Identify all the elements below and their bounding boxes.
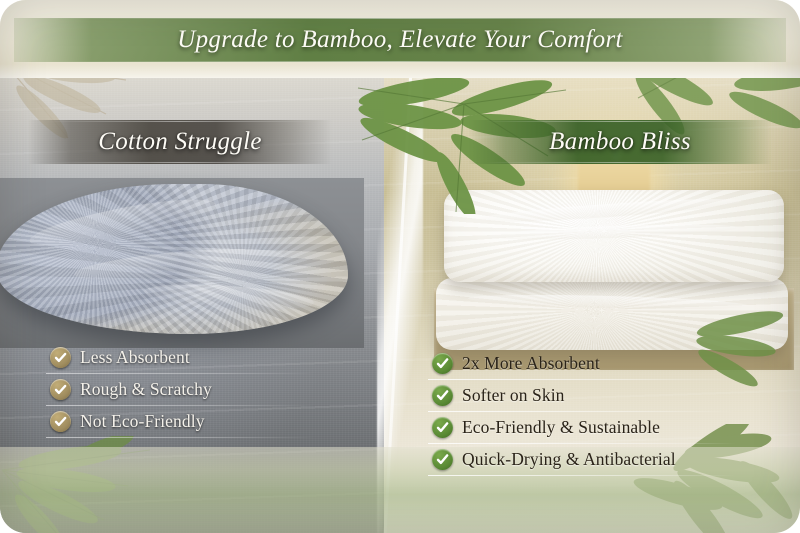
footer-tagline-bar: Upgrade to Bamboo, Elevate Your Comfort: [14, 18, 786, 62]
check-circle-icon: [50, 347, 71, 368]
list-item: Quick-Drying & Antibacterial: [428, 444, 718, 476]
list-item-label: Eco-Friendly & Sustainable: [462, 417, 660, 438]
check-circle-icon: [432, 353, 453, 374]
list-item: Less Absorbent: [46, 342, 296, 374]
list-item: Rough & Scratchy: [46, 374, 296, 406]
list-item-label: 2x More Absorbent: [462, 353, 600, 374]
check-circle-icon: [432, 417, 453, 438]
cotton-towel-image: [0, 178, 364, 348]
list-item: 2x More Absorbent: [428, 348, 718, 380]
footer-tagline-text: Upgrade to Bamboo, Elevate Your Comfort: [177, 26, 623, 54]
left-panel-banner: Cotton Struggle: [28, 120, 332, 164]
right-panel-banner: Bamboo Bliss: [468, 120, 772, 164]
right-panel-banner-label: Bamboo Bliss: [549, 128, 691, 156]
check-circle-icon: [432, 385, 453, 406]
left-panel-banner-label: Cotton Struggle: [98, 128, 262, 156]
list-item-label: Softer on Skin: [462, 385, 565, 406]
list-item: Softer on Skin: [428, 380, 718, 412]
list-item-label: Less Absorbent: [80, 347, 190, 368]
bamboo-feature-list: 2x More Absorbent Softer on Skin Eco-Fri…: [428, 348, 718, 476]
comparison-infographic-card: Cotton Struggle Vs Bamboo Bliss Cotton S…: [0, 0, 800, 533]
check-circle-icon: [50, 411, 71, 432]
list-item-label: Rough & Scratchy: [80, 379, 212, 400]
cotton-feature-list: Less Absorbent Rough & Scratchy Not Eco-…: [46, 342, 296, 438]
bamboo-towel-image: [434, 186, 794, 362]
check-circle-icon: [432, 449, 453, 470]
list-item-label: Quick-Drying & Antibacterial: [462, 449, 676, 470]
list-item: Eco-Friendly & Sustainable: [428, 412, 718, 444]
list-item: Not Eco-Friendly: [46, 406, 296, 438]
check-circle-icon: [50, 379, 71, 400]
list-item-label: Not Eco-Friendly: [80, 411, 205, 432]
